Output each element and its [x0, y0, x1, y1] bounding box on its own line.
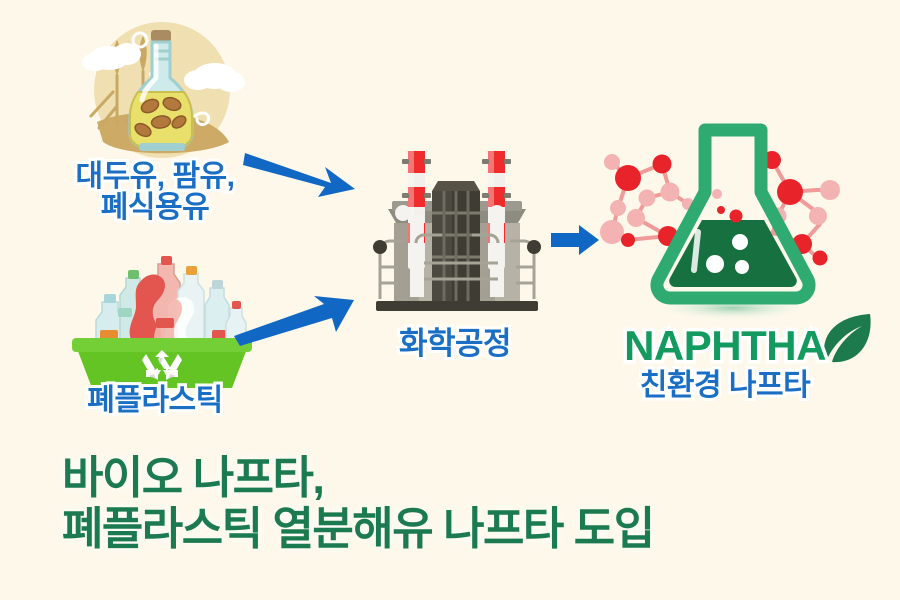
page-headline: 바이오 나프타, 폐플라스틱 열분해유 나프타 도입 — [62, 452, 862, 555]
label-waste-plastic: 폐플라스틱 — [40, 386, 270, 417]
label-oil-sources: 대두유, 팜유, 폐식용유 — [40, 162, 270, 223]
infographic-canvas: 대두유, 팜유, 폐식용유 — [0, 0, 900, 600]
label-chemical-process: 화학공정 — [355, 328, 555, 360]
oil-bottle-icon — [55, 18, 270, 168]
label-naphtha-en: NAPHTHA — [624, 325, 826, 367]
headline-line-2: 폐플라스틱 열분해유 나프타 도입 — [62, 503, 862, 554]
arrow-plastic-to-process — [232, 288, 357, 348]
flask-icon — [590, 112, 870, 327]
chemical-plant-icon — [372, 143, 542, 318]
arrow-oil-to-process — [243, 145, 358, 207]
label-oil-line1: 대두유, 팜유, — [75, 160, 234, 193]
headline-line-1: 바이오 나프타, — [62, 452, 323, 503]
label-oil-line2: 폐식용유 — [101, 191, 209, 224]
naphtha-label-group: NAPHTHA 친환경 나프타 — [575, 325, 875, 401]
label-naphtha-ko: 친환경 나프타 — [575, 371, 875, 401]
